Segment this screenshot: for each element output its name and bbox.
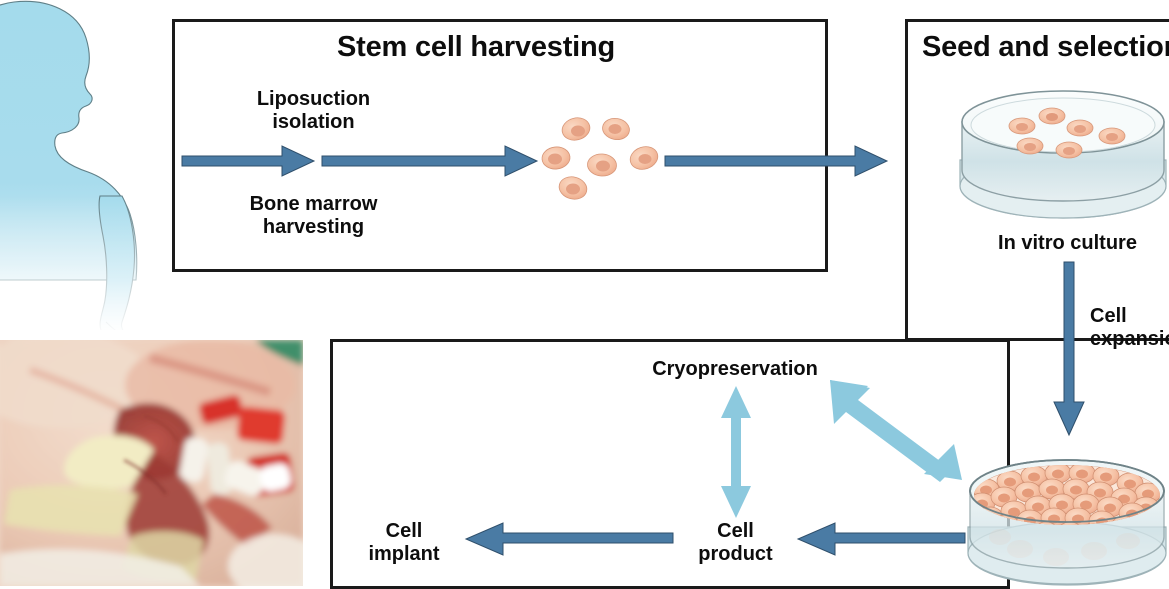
cell: [627, 143, 660, 173]
label-cell-product-line1: Cell: [678, 520, 793, 543]
surgery-photo: [0, 340, 303, 586]
cell: [601, 116, 631, 141]
label-in-vitro-culture: In vitro culture: [975, 232, 1160, 255]
label-cell-implant-line1: Cell: [344, 520, 464, 543]
label-cell-implant-line2: implant: [344, 543, 464, 566]
cell: [560, 115, 592, 143]
arrow-cell-expansion: [1050, 262, 1090, 437]
cell: [1067, 120, 1093, 136]
label-bone-marrow-line1: Bone marrow: [231, 193, 396, 216]
arrow-dish-to-cell-product: [795, 521, 965, 559]
patient-silhouette: [0, 0, 168, 330]
cell: [587, 153, 617, 177]
cell: [1009, 118, 1035, 134]
label-cell-implant: Cell implant: [344, 520, 464, 566]
surgery-photo-svg: [0, 340, 303, 586]
cell: [1017, 138, 1043, 154]
title-seed-and-selection: Seed and selection: [922, 31, 1169, 63]
silhouette-svg: [0, 0, 168, 330]
label-cell-product: Cell product: [678, 520, 793, 566]
petri-dish-confluent-svg: [960, 445, 1169, 586]
arrow-harvest-to-dish: [665, 142, 890, 180]
label-liposuction-isolation: Liposuction isolation: [231, 88, 396, 134]
petri-dish-confluent: [960, 445, 1169, 586]
arrow-cryo-cell-product: [718, 386, 754, 518]
cell: [1099, 128, 1125, 144]
title-stem-cell-harvesting: Stem cell harvesting: [337, 31, 615, 63]
figure-canvas: Stem cell harvesting Seed and selection …: [0, 0, 1169, 586]
label-bone-marrow-harvesting: Bone marrow harvesting: [231, 193, 396, 239]
cell-cluster-isolated: [540, 108, 665, 208]
label-liposuction-line1: Liposuction: [231, 88, 396, 111]
label-cryopreservation: Cryopreservation: [615, 358, 855, 381]
cell: [541, 146, 571, 171]
arrow-harvest-2: [322, 142, 540, 180]
label-bone-marrow-line2: harvesting: [231, 216, 396, 239]
arrow-product-to-implant: [463, 521, 673, 559]
label-cell-expansion: Cell expansion: [1090, 305, 1169, 351]
petri-dish-sparse: [952, 82, 1169, 222]
label-cell-product-line2: product: [678, 543, 793, 566]
cell: [1039, 108, 1065, 124]
label-cell-expansion-line1: Cell: [1090, 305, 1169, 328]
cell: [557, 174, 589, 202]
petri-dish-sparse-svg: [952, 82, 1169, 222]
arrow-harvest-1: [182, 142, 317, 180]
label-liposuction-line2: isolation: [231, 111, 396, 134]
cell-cluster-svg: [540, 108, 665, 208]
label-cell-expansion-line2: expansion: [1090, 328, 1169, 351]
arrow-cryo-expansion-diagonal: [828, 376, 978, 486]
cell: [1056, 142, 1082, 158]
